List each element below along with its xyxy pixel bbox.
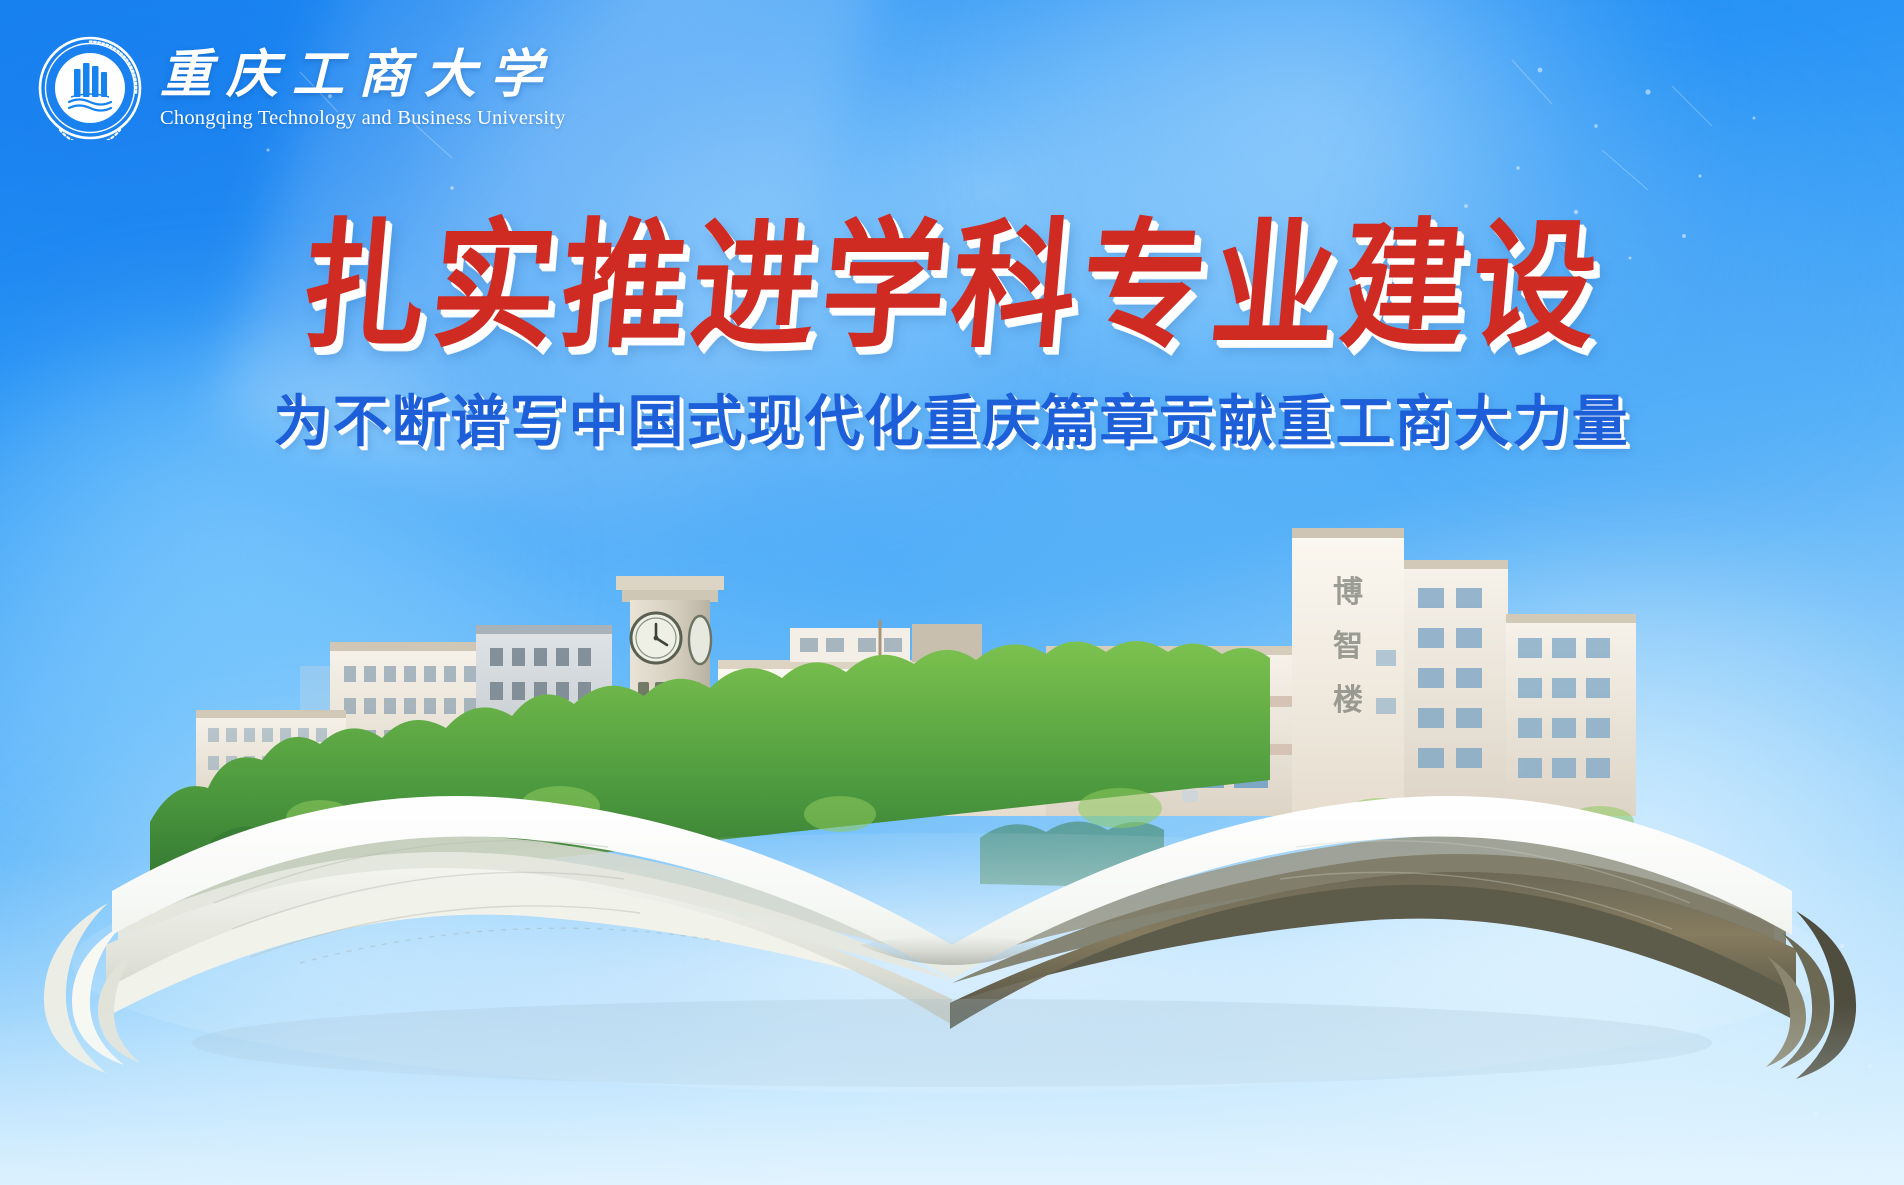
poster-canvas: 重庆工商大学 Chongqing Technology and Business…	[0, 0, 1904, 1185]
headline-container: 扎实推进学科专业建设	[0, 222, 1904, 353]
headline-sub: 为不断谱写中国式现代化重庆篇章贡献重工商大力量	[274, 392, 1631, 455]
brand-text-block: 重庆工商大学 Chongqing Technology and Business…	[160, 46, 566, 131]
brand-lockup: 重庆工商大学 Chongqing Technology and Business…	[38, 36, 566, 140]
open-book-illustration	[0, 713, 1904, 1133]
brand-name-cn: 重庆工商大学	[160, 48, 566, 102]
svg-text:智: 智	[1333, 629, 1363, 664]
svg-text:博: 博	[1333, 575, 1363, 610]
headline-main: 扎实推进学科专业建设	[296, 214, 1609, 361]
brand-name-en: Chongqing Technology and Business Univer…	[160, 106, 566, 131]
open-book	[0, 713, 1904, 1133]
subheadline-container: 为不断谱写中国式现代化重庆篇章贡献重工商大力量	[0, 392, 1904, 455]
university-crest-icon	[38, 36, 142, 140]
